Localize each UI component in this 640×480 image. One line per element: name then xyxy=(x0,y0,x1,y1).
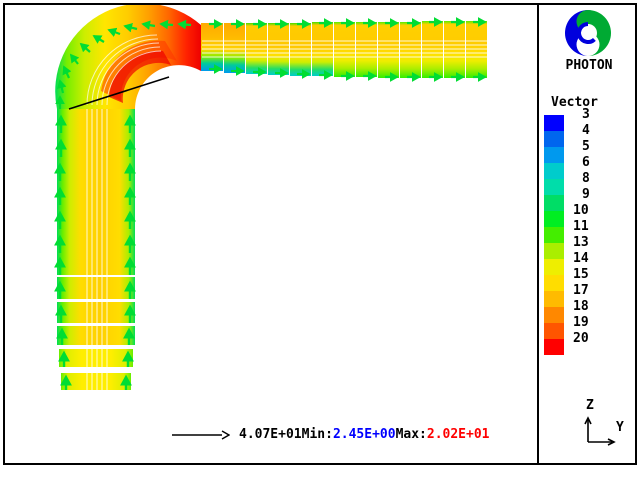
legend-swatch-12 xyxy=(544,307,564,323)
max-value: 2.02E+01 xyxy=(427,427,490,442)
min-label: Min: xyxy=(302,427,333,442)
vector-plot-canvas[interactable] xyxy=(5,5,535,415)
legend-swatch-0 xyxy=(544,115,564,131)
legend-tick-11: 17 xyxy=(568,283,628,299)
legend-tick-1: 4 xyxy=(568,123,628,139)
legend-swatch-14 xyxy=(544,339,564,355)
axis-label-z: Z xyxy=(586,398,594,413)
legend-swatch-4 xyxy=(544,179,564,195)
legend-swatch-6 xyxy=(544,211,564,227)
legend-tick-3: 6 xyxy=(568,155,628,171)
legend-tick-12: 18 xyxy=(568,299,628,315)
legend-tick-column: 345689101113141517181920 xyxy=(568,115,628,355)
elbow-bend-region xyxy=(55,5,201,109)
legend-swatch-1 xyxy=(544,131,564,147)
max-label: Max: xyxy=(396,427,427,442)
photon-viewer-window: 4.07E+01 Min: 2.45E+00 Max: 2.02E+01 PHO… xyxy=(0,0,640,480)
legend-swatch-13 xyxy=(544,323,564,339)
color-legend: Vector 345689101113141517181920 xyxy=(541,95,637,375)
photon-logo-text: PHOTON xyxy=(545,58,633,73)
legend-tick-5: 9 xyxy=(568,187,628,203)
legend-tick-9: 14 xyxy=(568,251,628,267)
legend-swatch-column xyxy=(544,115,564,355)
reference-vector-value: 4.07E+01 xyxy=(239,427,302,442)
legend-swatch-7 xyxy=(544,227,564,243)
legend-swatch-10 xyxy=(544,275,564,291)
legend-tick-6: 10 xyxy=(568,203,628,219)
legend-tick-14: 20 xyxy=(568,331,628,347)
min-value: 2.45E+00 xyxy=(333,427,396,442)
legend-swatch-8 xyxy=(544,243,564,259)
legend-swatch-9 xyxy=(544,259,564,275)
vertical-inlet-leg xyxy=(57,105,135,390)
legend-tick-7: 11 xyxy=(568,219,628,235)
panel-divider xyxy=(537,3,539,465)
legend-tick-8: 13 xyxy=(568,235,628,251)
photon-logo-box: PHOTON xyxy=(545,6,633,90)
photon-yin-yang-logo-icon xyxy=(563,8,613,58)
legend-swatch-3 xyxy=(544,163,564,179)
axis-triad-zy-icon: Z Y xyxy=(578,398,634,448)
horizontal-outlet-run xyxy=(201,21,487,79)
legend-tick-13: 19 xyxy=(568,315,628,331)
vector-field-svg xyxy=(5,5,535,415)
legend-swatch-11 xyxy=(544,291,564,307)
legend-tick-0: 3 xyxy=(568,107,628,123)
legend-tick-2: 5 xyxy=(568,139,628,155)
legend-swatch-2 xyxy=(544,147,564,163)
legend-tick-10: 15 xyxy=(568,267,628,283)
vector-scale-status-bar: 4.07E+01 Min: 2.45E+00 Max: 2.02E+01 xyxy=(172,423,490,445)
reference-vector-arrow xyxy=(172,427,230,441)
legend-swatch-5 xyxy=(544,195,564,211)
legend-tick-4: 8 xyxy=(568,171,628,187)
